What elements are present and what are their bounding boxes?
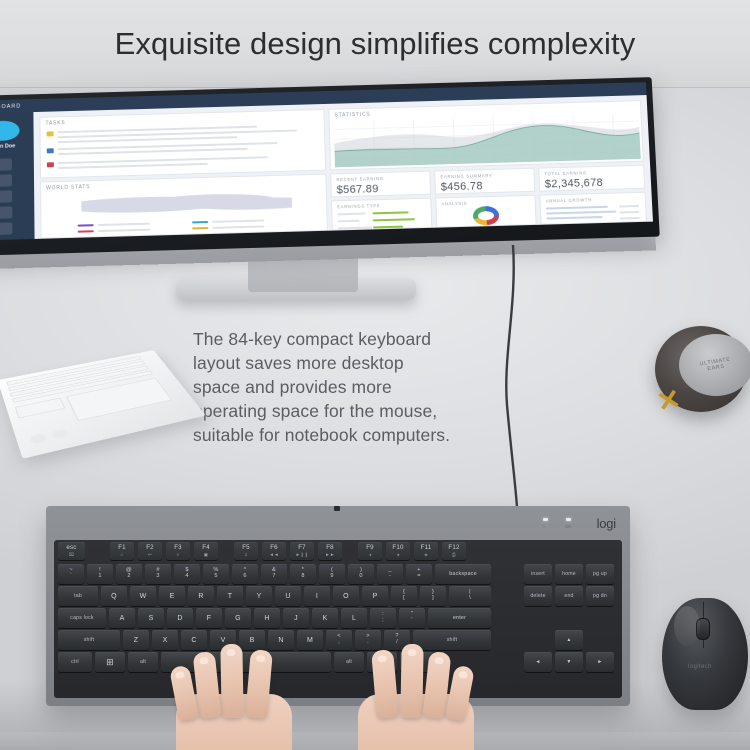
key-k[interactable]: K bbox=[312, 608, 338, 628]
task-bullet-1 bbox=[47, 131, 54, 136]
stat-label: RECENT EARNING bbox=[336, 176, 383, 182]
white-kb-pad-right bbox=[51, 428, 69, 439]
monitor: DASHBOARD John Doe bbox=[0, 88, 680, 288]
key-minus[interactable]: _ - bbox=[377, 564, 403, 584]
stat-value: $567.89 bbox=[337, 183, 379, 196]
product-marketing-image: Exquisite design simplifies complexity D… bbox=[0, 0, 750, 750]
annual-growth-title: ANNUAL GROWTH bbox=[546, 197, 592, 203]
next-icon: ►► bbox=[325, 552, 335, 557]
key-p-label: P bbox=[373, 593, 378, 600]
left-pinky-nail bbox=[175, 671, 185, 680]
key-f7-label: F7 bbox=[298, 545, 306, 551]
right-index-nail bbox=[377, 655, 387, 663]
analysis-title: ANALYSIS bbox=[441, 201, 467, 207]
key-f6[interactable]: F6 ◄◄ bbox=[262, 542, 286, 560]
legend-swatch bbox=[78, 224, 94, 226]
key-l-label: L bbox=[352, 615, 356, 622]
key-backtick-bot: ` bbox=[70, 574, 72, 580]
body-copy: The 84-key compact keyboard layout saves… bbox=[193, 327, 503, 447]
key-end-label: end bbox=[564, 593, 573, 599]
key-a-label: A bbox=[120, 615, 125, 622]
key-9[interactable]: ( 9 bbox=[319, 564, 345, 584]
key-0[interactable]: ) 0 bbox=[348, 564, 374, 584]
right-ring-nail bbox=[434, 657, 444, 665]
key-f-label: F bbox=[207, 615, 211, 622]
earnings-type-title: EARNINGS TYPE bbox=[337, 203, 380, 209]
right-middle-finger bbox=[400, 644, 423, 718]
key-f10[interactable]: F10 🕩 bbox=[386, 542, 410, 560]
compact-keyboard: ⌂ ⌨ logi esc ⌧ F1 ⌂ F2 ↩ F3 ⌕ F4 bbox=[46, 506, 630, 706]
ultimate-ears-speaker: ULTIMATE EARS ✕ bbox=[655, 322, 750, 418]
legend-label bbox=[98, 229, 150, 232]
left-middle-finger bbox=[220, 644, 243, 718]
legend-swatch bbox=[78, 230, 94, 232]
key-r[interactable]: R bbox=[188, 586, 214, 606]
key-equal[interactable]: + = bbox=[406, 564, 432, 584]
body-copy-line: suitable for notebook computers. bbox=[193, 423, 503, 447]
key-5-bot: 5 bbox=[214, 574, 217, 580]
speaker-brand: ULTIMATE EARS bbox=[700, 357, 733, 374]
dashboard-main: TASKS bbox=[33, 95, 653, 239]
world-stats-card: WORLD STATS bbox=[40, 174, 328, 239]
print-icon: ⎙ bbox=[452, 552, 456, 557]
key-enter[interactable]: enter bbox=[428, 608, 491, 628]
key-page-down-label: pg dn bbox=[593, 593, 607, 599]
key-arrow-left[interactable]: ◄ bbox=[524, 652, 552, 672]
key-f10-label: F10 bbox=[392, 545, 403, 551]
key-1[interactable]: ! 1 bbox=[87, 564, 113, 584]
caps-lock-led bbox=[543, 518, 548, 521]
vol-down-icon: 🕩 bbox=[396, 552, 399, 557]
arrow-up-icon: ▲ bbox=[566, 637, 571, 643]
key-u[interactable]: U bbox=[275, 586, 301, 606]
key-y[interactable]: Y bbox=[246, 586, 272, 606]
key-o-label: O bbox=[343, 593, 349, 600]
stat-card-earning-summary: EARNING SUMMARY $456.78 bbox=[434, 168, 535, 195]
key-esc[interactable]: esc ⌧ bbox=[58, 542, 85, 560]
statistics-area-chart bbox=[334, 113, 641, 167]
keyboard-key-plate: esc ⌧ F1 ⌂ F2 ↩ F3 ⌕ F4 ▣ F5 ♫ bbox=[54, 540, 622, 698]
growth-line bbox=[546, 206, 608, 209]
stat-value: $2,345,678 bbox=[545, 177, 604, 191]
key-ctrl-left-label: ctrl bbox=[71, 659, 79, 665]
annual-growth-card: ANNUAL GROWTH bbox=[539, 192, 647, 225]
key-8[interactable]: * 8 bbox=[290, 564, 316, 584]
stat-label: TOTAL EARNING bbox=[544, 170, 587, 176]
key-z[interactable]: Z bbox=[123, 630, 149, 650]
earnings-row-label bbox=[338, 226, 372, 229]
growth-value bbox=[620, 217, 640, 219]
key-9-bot: 9 bbox=[330, 574, 333, 580]
key-o[interactable]: O bbox=[333, 586, 359, 606]
key-backtick[interactable]: ~ ` bbox=[58, 564, 84, 584]
key-g[interactable]: G bbox=[225, 608, 251, 628]
key-alt-left[interactable]: alt bbox=[128, 652, 158, 672]
key-s[interactable]: S bbox=[138, 608, 164, 628]
key-comma-bot: , bbox=[338, 640, 340, 646]
key-1-bot: 1 bbox=[98, 574, 101, 580]
white-keyboard bbox=[8, 336, 186, 458]
earnings-type-card: EARNINGS TYPE bbox=[331, 198, 432, 231]
legend-label bbox=[212, 219, 264, 222]
task-bullet-2 bbox=[47, 148, 54, 153]
left-ring-nail bbox=[199, 657, 209, 665]
key-f11-label: F11 bbox=[421, 545, 432, 551]
earnings-row-bar bbox=[373, 218, 415, 221]
key-h-label: H bbox=[264, 615, 269, 622]
key-f1-label: F1 bbox=[118, 545, 126, 551]
num-lock-led bbox=[566, 518, 571, 521]
statistics-card: STATISTICS bbox=[328, 100, 644, 170]
key-s-label: S bbox=[149, 615, 154, 622]
key-k-label: K bbox=[323, 615, 328, 622]
world-map bbox=[81, 188, 292, 220]
arrow-down-icon: ▼ bbox=[566, 659, 571, 665]
right-middle-nail bbox=[407, 649, 416, 656]
page-title: Exquisite design simplifies complexity bbox=[115, 26, 636, 62]
key-shift-left-label: shift bbox=[84, 637, 95, 643]
key-page-up-label: pg up bbox=[593, 571, 607, 577]
key-arrow-right[interactable]: ► bbox=[586, 652, 614, 672]
key-semicolon-bot: ; bbox=[382, 618, 384, 624]
logi-logo: logi bbox=[597, 516, 616, 531]
key-end[interactable]: end bbox=[555, 586, 583, 606]
key-r-label: R bbox=[198, 593, 203, 600]
key-2[interactable]: @ 2 bbox=[116, 564, 142, 584]
key-d-label: D bbox=[177, 615, 182, 622]
key-backslash[interactable]: | \ bbox=[449, 586, 491, 606]
key-f6-label: F6 bbox=[270, 545, 278, 551]
key-windows[interactable]: ⊞ bbox=[95, 652, 125, 672]
key-insert-label: insert bbox=[531, 571, 545, 577]
sidebar-item-analytics[interactable] bbox=[0, 190, 12, 203]
key-tab[interactable]: tab bbox=[58, 586, 98, 606]
key-esc-label: esc bbox=[66, 545, 76, 551]
key-6[interactable]: ^ 6 bbox=[232, 564, 258, 584]
legend-swatch bbox=[192, 227, 208, 229]
analysis-card: ANALYSIS bbox=[435, 195, 536, 228]
earnings-row-label bbox=[338, 220, 360, 222]
vol-up-icon: 🕪 bbox=[424, 552, 427, 557]
key-f2-label: F2 bbox=[146, 545, 154, 551]
sidebar-item-settings[interactable] bbox=[0, 222, 12, 235]
stat-card-recent-earning: RECENT EARNING $567.89 bbox=[330, 171, 431, 198]
windows-icon: ⊞ bbox=[106, 657, 114, 668]
sidebar-item-messages[interactable] bbox=[0, 206, 12, 219]
dashboard-title: DASHBOARD bbox=[0, 103, 21, 110]
dashboard-ui: DASHBOARD John Doe bbox=[0, 82, 653, 240]
key-semicolon[interactable]: : ; bbox=[370, 608, 396, 628]
key-f11[interactable]: F11 🕪 bbox=[414, 542, 438, 560]
key-p[interactable]: P bbox=[362, 586, 388, 606]
right-hand bbox=[350, 640, 480, 750]
key-w-label: W bbox=[140, 593, 147, 600]
stat-value: $456.78 bbox=[441, 180, 483, 193]
growth-value bbox=[619, 211, 639, 213]
legend-label bbox=[98, 223, 150, 226]
left-hand bbox=[168, 640, 298, 750]
key-bracket-left-bot: [ bbox=[403, 596, 405, 602]
key-y-label: Y bbox=[257, 593, 262, 600]
key-bracket-right[interactable]: } ] bbox=[420, 586, 446, 606]
headline-banner: Exquisite design simplifies complexity bbox=[0, 0, 750, 88]
body-copy-line: space and provides more bbox=[193, 375, 503, 399]
key-f8-label: F8 bbox=[326, 545, 334, 551]
key-7[interactable]: & 7 bbox=[261, 564, 287, 584]
key-t-label: T bbox=[228, 593, 232, 600]
growth-line bbox=[546, 216, 602, 219]
key-home-label: home bbox=[562, 571, 576, 577]
key-h[interactable]: H bbox=[254, 608, 280, 628]
right-pinky-nail bbox=[458, 670, 468, 679]
key-m-label: M bbox=[307, 637, 313, 644]
key-bracket-right-bot: ] bbox=[432, 596, 434, 602]
key-insert[interactable]: insert bbox=[524, 564, 552, 584]
lock-icon: ⌧ bbox=[69, 552, 75, 557]
earnings-row-bar bbox=[373, 226, 403, 229]
key-quote-bot: ' bbox=[411, 618, 412, 624]
key-f[interactable]: F bbox=[196, 608, 222, 628]
prev-icon: ◄◄ bbox=[269, 552, 279, 557]
avatar bbox=[0, 120, 20, 141]
key-caps-lock[interactable]: caps lock bbox=[58, 608, 106, 628]
home-icon: ⌂ bbox=[121, 552, 124, 557]
growth-value bbox=[619, 205, 639, 207]
window-icon: ▣ bbox=[204, 552, 209, 557]
stat-card-total-earning: TOTAL EARNING $2,345,678 bbox=[538, 165, 645, 192]
key-home[interactable]: home bbox=[555, 564, 583, 584]
key-e-label: E bbox=[170, 593, 175, 600]
key-q[interactable]: Q bbox=[101, 586, 127, 606]
key-t[interactable]: T bbox=[217, 586, 243, 606]
key-g-label: G bbox=[235, 615, 241, 622]
legend-label bbox=[212, 225, 264, 228]
tasks-card-title: TASKS bbox=[45, 120, 65, 127]
arrow-left-icon: ◄ bbox=[535, 659, 540, 665]
dashboard-sidebar: John Doe bbox=[0, 112, 35, 241]
key-m[interactable]: M bbox=[297, 630, 323, 650]
key-enter-label: enter bbox=[453, 615, 466, 621]
key-w[interactable]: W bbox=[130, 586, 156, 606]
key-q-label: Q bbox=[111, 593, 117, 600]
key-i-label: I bbox=[316, 593, 318, 600]
key-l[interactable]: L bbox=[341, 608, 367, 628]
left-middle-nail bbox=[226, 649, 235, 656]
earnings-row-bar bbox=[373, 211, 409, 214]
task-line bbox=[58, 163, 208, 169]
key-f9-label: F9 bbox=[366, 545, 374, 551]
key-backspace[interactable]: backspace bbox=[435, 564, 491, 584]
back-icon: ↩ bbox=[148, 552, 152, 557]
key-alt-left-label: alt bbox=[140, 659, 146, 665]
key-bracket-left[interactable]: { [ bbox=[391, 586, 417, 606]
key-6-bot: 6 bbox=[243, 574, 246, 580]
key-f5-label: F5 bbox=[242, 545, 250, 551]
task-bullet-3 bbox=[47, 162, 54, 167]
key-f7[interactable]: F7 ►❙❙ bbox=[290, 542, 314, 560]
key-page-down[interactable]: pg dn bbox=[586, 586, 614, 606]
search-icon: ⌕ bbox=[177, 552, 180, 557]
key-d[interactable]: D bbox=[167, 608, 193, 628]
sidebar-item-reports[interactable] bbox=[0, 174, 12, 187]
wireless-mouse[interactable]: logitech bbox=[662, 598, 748, 710]
key-f5[interactable]: F5 ♫ bbox=[234, 542, 258, 560]
white-kb-pad-left bbox=[29, 433, 47, 444]
key-i[interactable]: I bbox=[304, 586, 330, 606]
statistics-card-title: STATISTICS bbox=[334, 112, 370, 119]
key-a[interactable]: A bbox=[109, 608, 135, 628]
key-z-label: Z bbox=[134, 637, 138, 644]
world-stats-title: WORLD STATS bbox=[46, 184, 90, 191]
key-minus-bot: - bbox=[389, 574, 391, 580]
key-f8[interactable]: F8 ►► bbox=[318, 542, 342, 560]
key-0-bot: 0 bbox=[359, 574, 362, 580]
key-quote[interactable]: " ' bbox=[399, 608, 425, 628]
key-backslash-bot: \ bbox=[469, 596, 471, 602]
key-f9[interactable]: F9 🕨 bbox=[358, 542, 382, 560]
right-index-finger bbox=[371, 649, 399, 719]
analysis-donut-chart bbox=[473, 206, 500, 226]
left-index-nail bbox=[256, 655, 266, 663]
key-arrow-up[interactable]: ▲ bbox=[555, 630, 583, 650]
speaker-brand-line2: EARS bbox=[707, 364, 725, 373]
legend-swatch bbox=[192, 221, 208, 223]
sidebar-user-name: John Doe bbox=[0, 143, 28, 150]
white-keyboard-body bbox=[0, 350, 206, 459]
key-2-bot: 2 bbox=[127, 574, 130, 580]
monitor-screen: DASHBOARD John Doe bbox=[0, 82, 653, 240]
earnings-row-label bbox=[337, 213, 365, 215]
key-shift-left[interactable]: shift bbox=[58, 630, 120, 650]
key-arrow-down[interactable]: ▼ bbox=[555, 652, 583, 672]
key-f12-label: F12 bbox=[448, 545, 459, 551]
mouse-body[interactable]: logitech bbox=[662, 598, 748, 710]
key-3[interactable]: # 3 bbox=[145, 564, 171, 584]
media-icon: ♫ bbox=[244, 552, 248, 557]
key-f3-label: F3 bbox=[174, 545, 182, 551]
key-f2[interactable]: F2 ↩ bbox=[138, 542, 162, 560]
growth-line bbox=[546, 211, 616, 215]
key-e[interactable]: E bbox=[159, 586, 185, 606]
key-j-label: J bbox=[294, 615, 298, 622]
num-lock-led-label: ⌨ bbox=[565, 524, 571, 529]
key-comma[interactable]: < , bbox=[326, 630, 352, 650]
task-line bbox=[58, 156, 268, 163]
tasks-card: TASKS bbox=[39, 109, 326, 179]
body-copy-line: The 84-key compact keyboard bbox=[193, 327, 503, 351]
monitor-bezel: DASHBOARD John Doe bbox=[0, 77, 660, 256]
key-7-bot: 7 bbox=[272, 574, 275, 580]
task-line bbox=[58, 136, 238, 143]
stat-label: EARNING SUMMARY bbox=[440, 173, 492, 179]
mute-icon: 🕨 bbox=[368, 552, 371, 557]
key-x-label: X bbox=[163, 637, 168, 644]
keyboard-cable-port bbox=[334, 506, 340, 511]
key-f4[interactable]: F4 ▣ bbox=[194, 542, 218, 560]
key-8-bot: 8 bbox=[301, 574, 304, 580]
key-backspace-label: backspace bbox=[449, 571, 477, 577]
key-f12[interactable]: F12 ⎙ bbox=[442, 542, 466, 560]
caps-lock-led-label: ⌂ bbox=[543, 524, 545, 529]
key-f1[interactable]: F1 ⌂ bbox=[110, 542, 134, 560]
key-4[interactable]: $ 4 bbox=[174, 564, 200, 584]
body-copy-line: operating space for the mouse, bbox=[193, 399, 503, 423]
key-3-bot: 3 bbox=[156, 574, 159, 580]
key-f3[interactable]: F3 ⌕ bbox=[166, 542, 190, 560]
sidebar-item-overview[interactable] bbox=[0, 158, 12, 171]
key-page-up[interactable]: pg up bbox=[586, 564, 614, 584]
body-copy-line: layout saves more desktop bbox=[193, 351, 503, 375]
key-caps-lock-label: caps lock bbox=[70, 615, 93, 621]
key-delete[interactable]: delete bbox=[524, 586, 552, 606]
mouse-brand: logitech bbox=[688, 664, 712, 670]
mouse-highlight bbox=[674, 606, 700, 646]
key-f4-label: F4 bbox=[202, 545, 210, 551]
key-j[interactable]: J bbox=[283, 608, 309, 628]
key-tab-label: tab bbox=[74, 593, 82, 599]
key-equal-bot: = bbox=[417, 574, 420, 580]
key-delete-label: delete bbox=[530, 593, 545, 599]
play-icon: ►❙❙ bbox=[296, 552, 309, 557]
arrow-right-icon: ► bbox=[597, 659, 602, 665]
key-4-bot: 4 bbox=[185, 574, 188, 580]
speaker-top-plate: ULTIMATE EARS bbox=[679, 334, 750, 396]
key-5[interactable]: % 5 bbox=[203, 564, 229, 584]
key-u-label: U bbox=[285, 593, 290, 600]
key-ctrl-left[interactable]: ctrl bbox=[58, 652, 92, 672]
